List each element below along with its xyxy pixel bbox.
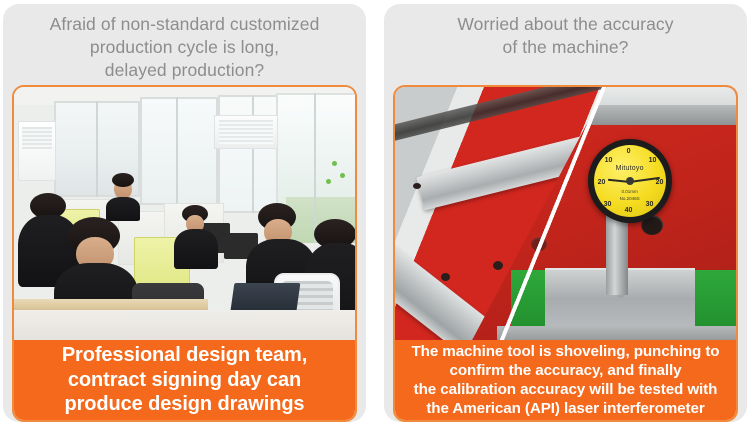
window-mullion — [314, 93, 316, 243]
dial-tick-40: 40 — [625, 207, 633, 214]
caption-bar-right: The machine tool is shoveling, punching … — [395, 340, 736, 420]
panel-question-right: Worried about the accuracy of the machin… — [396, 13, 735, 59]
dial-spec-label: 0.01mm — [594, 189, 666, 194]
dial-tick-10r: 10 — [649, 157, 657, 164]
window-mullion — [96, 101, 98, 197]
window-2 — [140, 97, 218, 205]
office-scene — [14, 87, 355, 344]
air-conditioner-unit — [18, 121, 56, 181]
dial-face: 0 10 20 30 40 30 20 10 Mitutoyo 0.01mm — [594, 145, 666, 217]
photo-card-left: Professional design team, contract signi… — [12, 85, 357, 422]
bolt-hole — [413, 183, 421, 189]
person-body — [106, 197, 140, 221]
dial-tick-10l: 10 — [605, 157, 613, 164]
dial-model-label: No.2046S — [594, 196, 666, 201]
dial-tick-30r: 30 — [646, 201, 654, 208]
panel-question-left: Afraid of non-standard customized produc… — [15, 13, 354, 82]
dial-tick-20r: 20 — [656, 179, 664, 186]
caption-text-right: The machine tool is shoveling, punching … — [411, 342, 719, 418]
dial-tick-30l: 30 — [604, 201, 612, 208]
mitutoyo-dial-indicator: 0 10 20 30 40 30 20 10 Mitutoyo 0.01mm — [588, 139, 672, 223]
office-floor — [14, 310, 355, 344]
bolt-hole — [493, 261, 503, 270]
bolt-hole — [531, 237, 547, 251]
person-hair — [112, 173, 134, 187]
person-body — [174, 229, 218, 269]
indicator-dot — [332, 161, 337, 166]
promo-banner: Afraid of non-standard customized produc… — [0, 0, 750, 426]
indicator-dot — [340, 173, 345, 178]
window-mullion — [176, 97, 178, 205]
office-photo — [14, 87, 355, 344]
photo-card-right: 0 10 20 30 40 30 20 10 Mitutoyo 0.01mm — [393, 85, 738, 422]
dial-hub — [626, 177, 634, 185]
panel-design-team: Afraid of non-standard customized produc… — [3, 4, 366, 422]
caption-bar-left: Professional design team, contract signi… — [14, 340, 355, 420]
dial-brand-label: Mitutoyo — [594, 165, 666, 172]
machine-photo: 0 10 20 30 40 30 20 10 Mitutoyo 0.01mm — [395, 87, 736, 344]
indicator-dot — [326, 179, 331, 184]
caption-text-left: Professional design team, contract signi… — [62, 343, 307, 417]
machine-scene: 0 10 20 30 40 30 20 10 Mitutoyo 0.01mm — [395, 87, 736, 344]
wall-vent — [214, 115, 278, 149]
panel-machine-accuracy: Worried about the accuracy of the machin… — [384, 4, 747, 422]
dial-tick-20l: 20 — [598, 179, 606, 186]
window-mullion — [252, 95, 254, 213]
bolt-hole — [441, 273, 450, 281]
dial-tick-0: 0 — [627, 148, 631, 155]
